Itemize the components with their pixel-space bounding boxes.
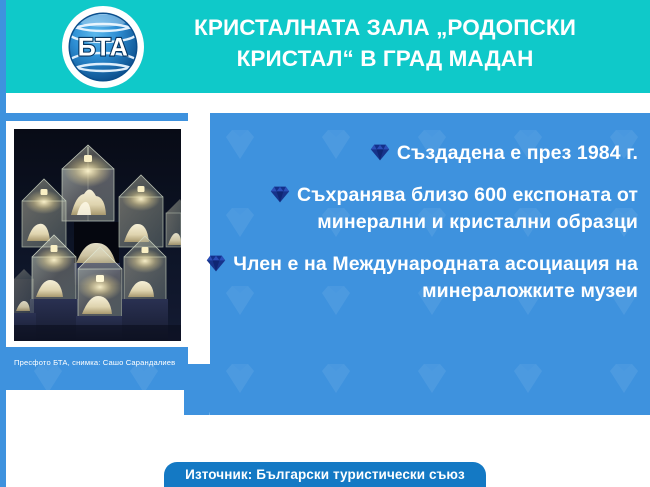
fact-text: Член е на Международната асоциация на ми… bbox=[233, 253, 638, 302]
fact-item: Член е на Международната асоциация на ми… bbox=[186, 251, 638, 305]
bta-logo: БТА bbox=[62, 6, 144, 88]
diamond-icon bbox=[270, 186, 290, 203]
page-title: КРИСТАЛНАТА ЗАЛА „РОДОПСКИ КРИСТАЛ“ В ГР… bbox=[150, 12, 620, 74]
fact-item: Създадена е през 1984 г. bbox=[186, 140, 638, 167]
photo-card bbox=[6, 121, 189, 347]
source-banner: Източник: Български туристически съюз bbox=[164, 462, 486, 487]
photo-caption: Пресфото БТА, снимка: Сашо Сарандалиев bbox=[14, 358, 234, 367]
header-bar: БТА КРИСТАЛНАТА ЗАЛА „РОДОПСКИ КРИСТАЛ“ … bbox=[0, 0, 650, 93]
fact-text: Създадена е през 1984 г. bbox=[397, 142, 638, 164]
source-text: Източник: Български туристически съюз bbox=[185, 467, 465, 482]
svg-text:БТА: БТА bbox=[78, 34, 129, 62]
crystal-hall-photo-illustration bbox=[14, 129, 181, 341]
facts-list: Създадена е през 1984 г. Съхранява близо… bbox=[186, 140, 638, 305]
diamond-icon bbox=[206, 255, 226, 272]
infographic-canvas: БТА КРИСТАЛНАТА ЗАЛА „РОДОПСКИ КРИСТАЛ“ … bbox=[0, 0, 650, 487]
diamond-icon bbox=[370, 144, 390, 161]
fact-text: Съхранява близо 600 експоната от минерал… bbox=[297, 184, 638, 233]
bta-globe-icon: БТА bbox=[65, 9, 141, 85]
museum-photo bbox=[14, 129, 181, 341]
fact-item: Съхранява близо 600 експоната от минерал… bbox=[186, 182, 638, 236]
left-accent-rail bbox=[0, 0, 6, 487]
